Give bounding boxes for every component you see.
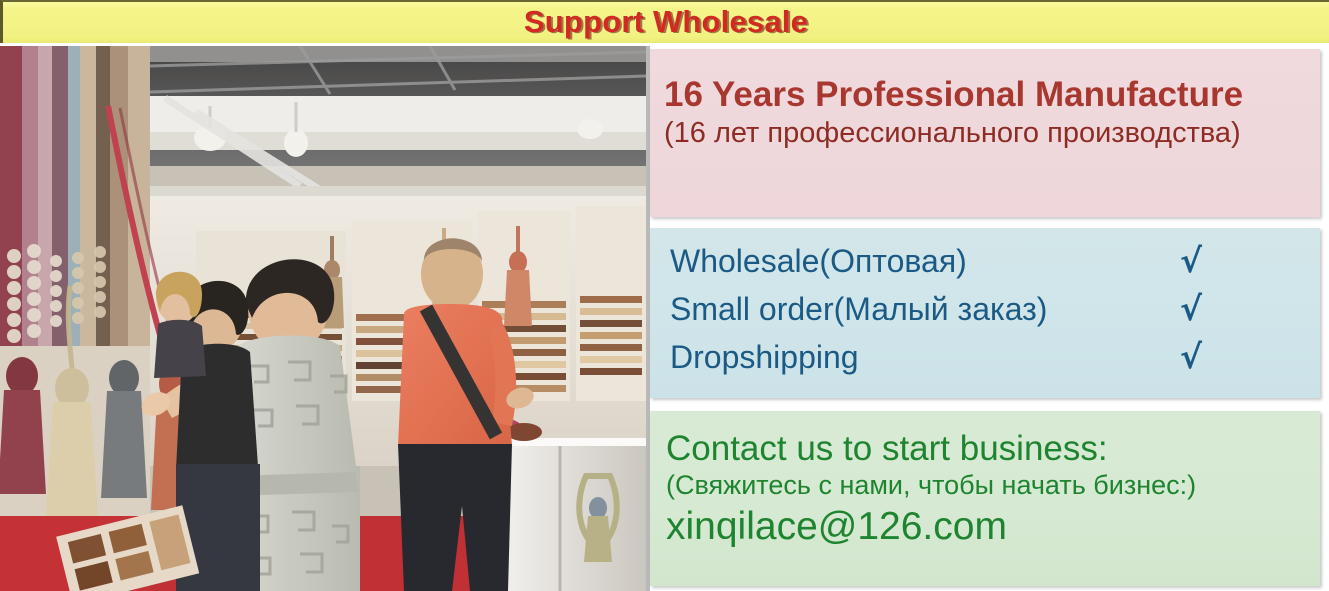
promo-banner-page: Support Wholesale	[0, 0, 1329, 591]
contact-panel: Contact us to start business: (Свяжитесь…	[650, 411, 1320, 586]
service-row-wholesale: Wholesale(Оптовая) √	[670, 244, 1306, 277]
service-label-dropshipping: Dropshipping	[670, 341, 1180, 373]
service-row-dropshipping: Dropshipping √	[670, 340, 1306, 373]
trade-show-photo	[0, 46, 646, 591]
photo-illustration	[0, 46, 646, 591]
contact-headline: Contact us to start business:	[666, 431, 1306, 468]
check-icon-wholesale: √	[1180, 244, 1202, 277]
experience-panel: 16 Years Professional Manufacture (16 ле…	[650, 49, 1320, 217]
check-icon-dropshipping: √	[1180, 340, 1202, 373]
services-panel: Wholesale(Оптовая) √ Small order(Малый з…	[650, 228, 1320, 398]
banner-title: Support Wholesale	[524, 6, 808, 37]
check-icon-small-order: √	[1180, 292, 1202, 325]
contact-email[interactable]: xinqilace@126.com	[666, 507, 1306, 548]
contact-subline-russian: (Свяжитесь с нами, чтобы начать бизнес:)	[666, 470, 1306, 501]
service-label-small-order: Small order(Малый заказ)	[670, 293, 1180, 325]
experience-headline: 16 Years Professional Manufacture	[664, 77, 1306, 113]
experience-subline-russian: (16 лет профессионального производства)	[664, 116, 1306, 150]
service-label-wholesale: Wholesale(Оптовая)	[670, 245, 1180, 277]
top-banner: Support Wholesale	[0, 0, 1329, 43]
service-row-small-order: Small order(Малый заказ) √	[670, 292, 1306, 325]
